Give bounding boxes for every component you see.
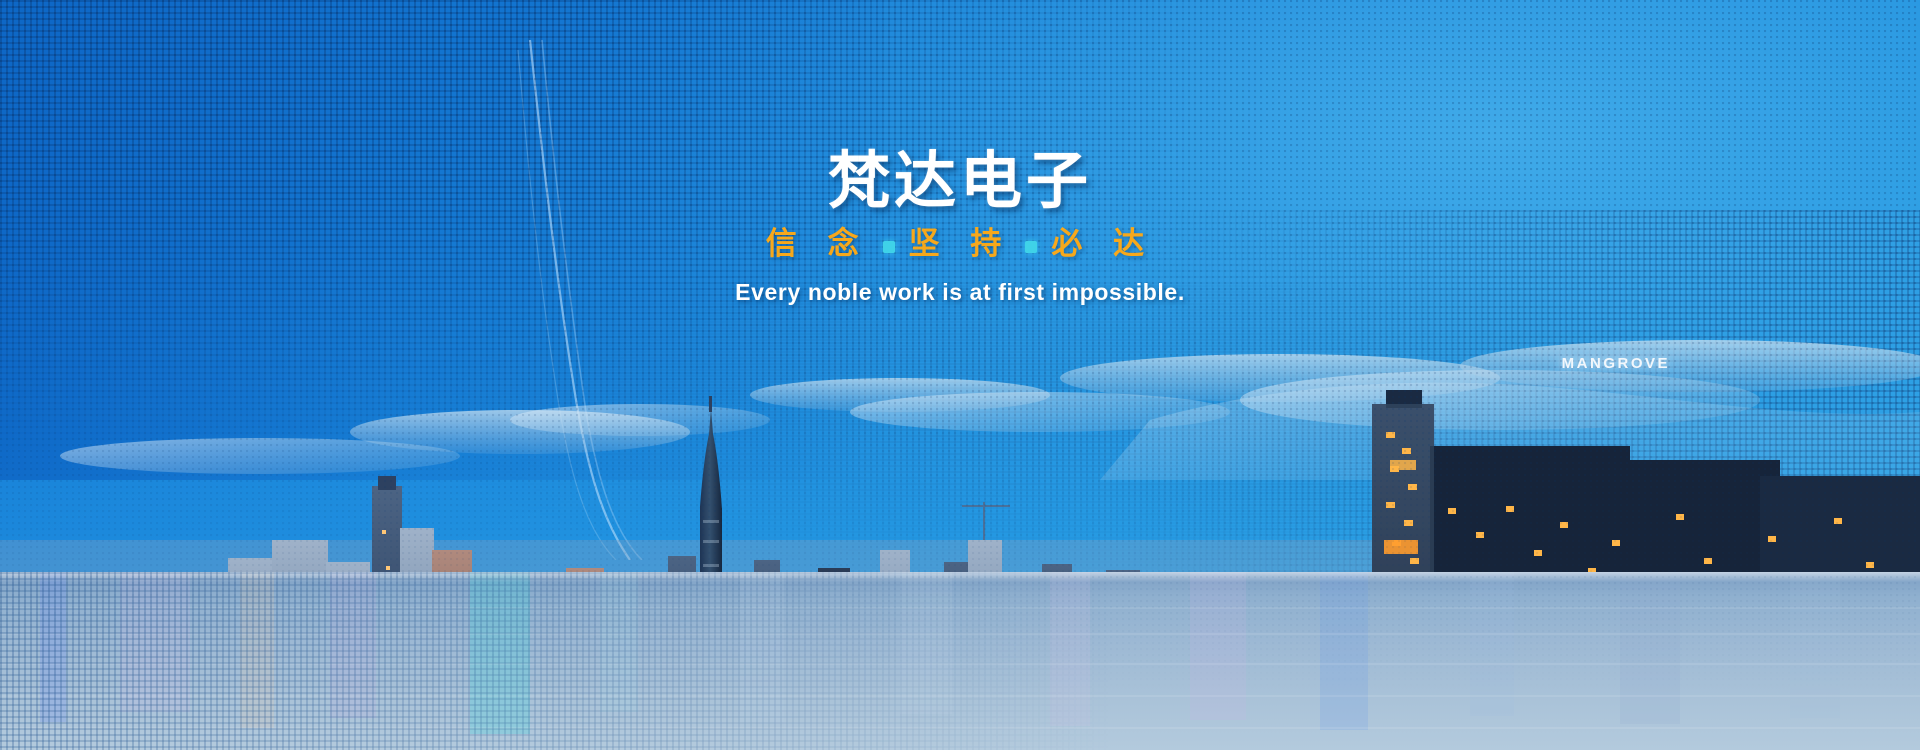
page-title: 梵达电子 (0, 148, 1920, 213)
water-mesh-overlay (0, 572, 1114, 750)
slogan-segment-3: 必 达 (1051, 227, 1154, 261)
banner-text-block: 梵达电子 信 念 坚 持 必 达 Every noble work is at … (0, 148, 1920, 306)
separator-square-icon (1025, 241, 1037, 253)
english-tagline: Every noble work is at first impossible. (0, 279, 1920, 306)
slogan-segment-2: 坚 持 (909, 227, 1012, 261)
slogan-row: 信 念 坚 持 必 达 (0, 227, 1920, 261)
mangrove-building-sign: MANGROVE (1562, 355, 1670, 372)
hero-banner: MANGROVE (0, 0, 1920, 750)
separator-square-icon (883, 241, 895, 253)
slogan-segment-1: 信 念 (766, 227, 869, 261)
